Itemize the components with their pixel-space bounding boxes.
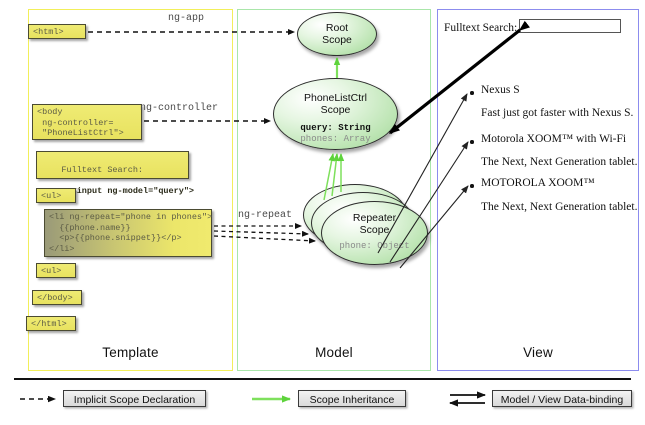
connector-ng-repeat-3 <box>214 236 315 241</box>
legend-item-scope-inheritance: Scope Inheritance <box>298 390 406 407</box>
connector-databinding-query <box>390 30 520 133</box>
panel-title-model: Model <box>237 345 431 360</box>
legend-divider <box>14 378 631 380</box>
legend-item-implicit-scope-declaration: Implicit Scope Declaration <box>63 390 206 407</box>
legend-item-model-view-data-binding: Model / View Data-binding <box>492 390 632 407</box>
connector-ng-repeat-2 <box>214 231 308 234</box>
connector-overlay <box>0 0 645 425</box>
connector-databinding-item-1 <box>378 94 467 253</box>
connector-inheritance-rep-2 <box>332 154 337 196</box>
panel-title-template: Template <box>28 345 233 360</box>
panel-title-view: View <box>437 345 639 360</box>
diagram-canvas: <html> <body ng-controller= "PhoneListCt… <box>0 0 645 425</box>
connector-databinding-item-2 <box>390 142 468 262</box>
connector-databinding-item-3 <box>400 186 468 268</box>
